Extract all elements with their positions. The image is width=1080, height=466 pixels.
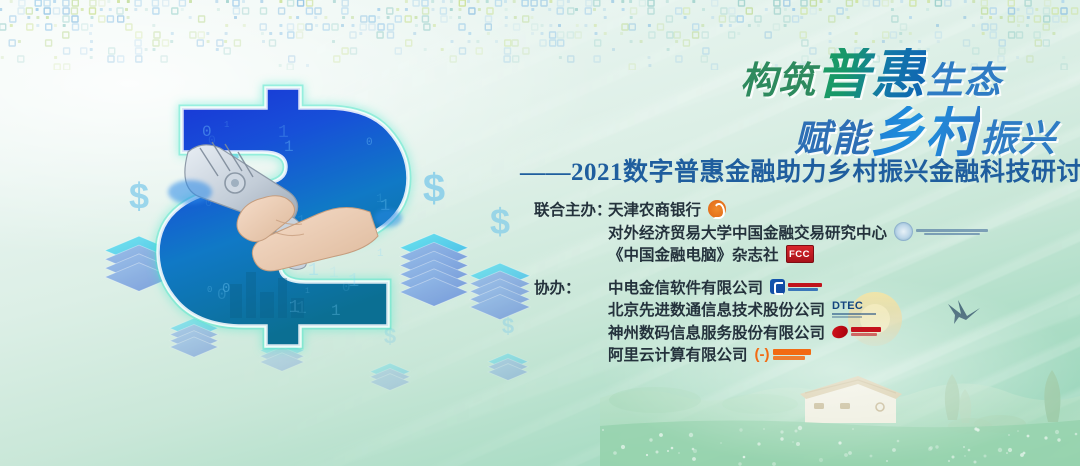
floating-dollar-glyph: $ — [184, 199, 196, 224]
coin-stack: $ — [470, 201, 530, 320]
accent-blob-left — [168, 180, 212, 204]
tjrcb-logo — [708, 200, 726, 218]
coin-stack: $ — [170, 270, 218, 357]
fcc-logo: FCC — [786, 245, 814, 263]
dcits-logo — [832, 326, 881, 338]
svg-text:0: 0 — [202, 123, 212, 141]
coorg-name-1: 中电金信软件有限公司 — [608, 276, 763, 298]
host-name-2: 对外经济贸易大学中国金融交易研究中心 — [608, 221, 887, 243]
gintech-wordmark — [788, 283, 822, 291]
svg-text:0: 0 — [221, 168, 231, 187]
coin-stack: $ — [260, 300, 304, 372]
coorganizer-label: 协办： — [534, 276, 608, 298]
svg-text:1: 1 — [305, 287, 310, 296]
uibe-wordmark — [916, 229, 988, 236]
coorg-row-3: 协办： 神州数码信息服务股份有限公司 — [534, 321, 1064, 344]
handshake-graphic — [185, 142, 378, 271]
subtitle: ——2021数字普惠金融助力乡村振兴金融科技研讨会 — [520, 152, 1066, 188]
svg-text:1: 1 — [297, 213, 305, 229]
coorg-row-2: 协办： 北京先进数通信息技术股份公司 DTEC — [534, 298, 1064, 321]
svg-text:0: 0 — [205, 196, 212, 210]
uibe-seal-icon — [894, 222, 913, 241]
svg-text:1: 1 — [284, 138, 294, 156]
city-silhouette — [230, 272, 304, 318]
house-icon — [800, 376, 902, 423]
host-name-3: 《中国金融电脑》杂志社 — [608, 243, 779, 265]
svg-text:0: 0 — [219, 166, 226, 178]
aliyun-logo: (-) — [755, 347, 811, 362]
svg-text:1: 1 — [296, 299, 307, 319]
headline-l1-seg1: 构筑 — [740, 63, 816, 100]
svg-text:0: 0 — [332, 237, 339, 249]
dtec-logo: DTEC — [832, 301, 876, 318]
headline-l1-seg3: 生态 — [926, 63, 1002, 100]
floating-dollar-glyph: $ — [423, 167, 445, 211]
accent-blob-right — [374, 209, 402, 227]
floating-dollar-glyph: $ — [275, 300, 289, 327]
coin-stack: $ — [105, 175, 173, 291]
svg-text:1: 1 — [285, 260, 290, 270]
host-label: 联合主办： — [534, 198, 608, 220]
headline-l1-seg2: 普惠 — [816, 48, 926, 102]
svg-text:0: 0 — [342, 280, 350, 296]
svg-text:1: 1 — [201, 152, 208, 164]
cypress-trees — [945, 370, 1061, 434]
svg-text:1: 1 — [376, 191, 384, 206]
coorg-row-4: 协办： 阿里云计算有限公司 (-) — [534, 343, 1064, 366]
svg-text:0: 0 — [208, 133, 216, 148]
svg-text:0: 0 — [286, 239, 296, 258]
uibe-logo — [894, 222, 988, 241]
aliyun-bracket-icon: (-) — [755, 347, 770, 362]
svg-text:1: 1 — [366, 229, 374, 244]
dollar-sign-shape — [158, 88, 408, 346]
floating-dollar-glyph: $ — [502, 314, 514, 339]
svg-text:1: 1 — [308, 261, 319, 281]
dollar-glow — [158, 88, 408, 346]
svg-text:1: 1 — [278, 123, 289, 143]
svg-text:0: 0 — [250, 206, 256, 217]
coin-stack: $ — [190, 142, 266, 318]
cetc-gintech-logo — [770, 279, 822, 294]
svg-text:1: 1 — [328, 244, 338, 263]
svg-text:1: 1 — [377, 248, 384, 260]
svg-text:1: 1 — [289, 298, 300, 318]
host-name-1: 天津农商银行 — [608, 198, 701, 220]
coorg-name-4: 阿里云计算有限公司 — [608, 343, 748, 365]
dtec-wordmark: DTEC — [832, 301, 863, 312]
credits-block: 联合主办： 天津农商银行 联合主办： 对外经济贸易大学中国金融交易研究中心 联合… — [534, 198, 1064, 376]
svg-text:1: 1 — [348, 270, 359, 292]
dcits-swoosh-icon — [831, 324, 850, 340]
headline: 构筑普惠生态 赋能乡村振兴 — [520, 48, 1060, 160]
floating-dollar-glyph: $ — [129, 175, 149, 216]
dtec-rule — [832, 313, 876, 315]
conference-banner: $$$$$$$$$ 111000100111100110011111100000… — [0, 0, 1080, 466]
floating-dollar-glyph: $ — [384, 324, 396, 349]
dcits-wordmark — [851, 327, 881, 336]
floating-dollar-glyph: $ — [490, 201, 510, 242]
host-block: 联合主办： 天津农商银行 联合主办： 对外经济贸易大学中国金融交易研究中心 联合… — [534, 198, 1064, 266]
coorg-row-1: 协办： 中电金信软件有限公司 — [534, 276, 1064, 299]
svg-text:1: 1 — [224, 120, 229, 130]
coorganizer-block: 协办： 中电金信软件有限公司 协办： 北京先进数通信息技术股份公司 DTEC 协… — [534, 276, 1064, 366]
svg-text:0: 0 — [207, 285, 212, 295]
svg-text:1: 1 — [380, 197, 390, 216]
svg-text:1: 1 — [329, 264, 339, 282]
gintech-mark-icon — [770, 279, 785, 294]
svg-text:1: 1 — [349, 273, 359, 291]
host-row-2: 联合主办： 对外经济贸易大学中国金融交易研究中心 — [534, 221, 1064, 244]
svg-text:0: 0 — [233, 152, 244, 174]
aliyun-wordmark — [773, 349, 811, 361]
coin-stack: $ — [488, 314, 528, 381]
svg-text:0: 0 — [217, 286, 227, 304]
robot-arm — [185, 142, 308, 269]
svg-text:0: 0 — [268, 212, 278, 230]
foreground-grass — [600, 420, 1080, 466]
headline-line-1: 构筑普惠生态 — [520, 48, 1002, 102]
host-row-3: 联合主办： 《中国金融电脑》杂志社 FCC — [534, 243, 1064, 266]
coorg-name-3: 神州数码信息服务股份有限公司 — [608, 321, 825, 343]
dollar-handshake-artwork: $$$$$$$$$ 111000100111100110011111100000… — [70, 52, 540, 412]
coin-stack: $ — [400, 167, 468, 307]
host-row-1: 联合主办： 天津农商银行 — [534, 198, 1064, 221]
svg-text:0: 0 — [222, 281, 230, 297]
svg-text:0: 0 — [366, 137, 373, 149]
floating-dollar-glyph: $ — [187, 270, 202, 300]
coin-stack: $ — [370, 324, 410, 391]
svg-text:1: 1 — [331, 302, 341, 320]
human-hand — [237, 196, 378, 271]
dtec-subrule — [832, 316, 862, 318]
coin-stack: $ — [170, 199, 210, 266]
coorg-name-2: 北京先进数通信息技术股份公司 — [608, 298, 825, 320]
floating-dollar-glyph: $ — [216, 142, 240, 191]
far-field — [600, 383, 1080, 466]
